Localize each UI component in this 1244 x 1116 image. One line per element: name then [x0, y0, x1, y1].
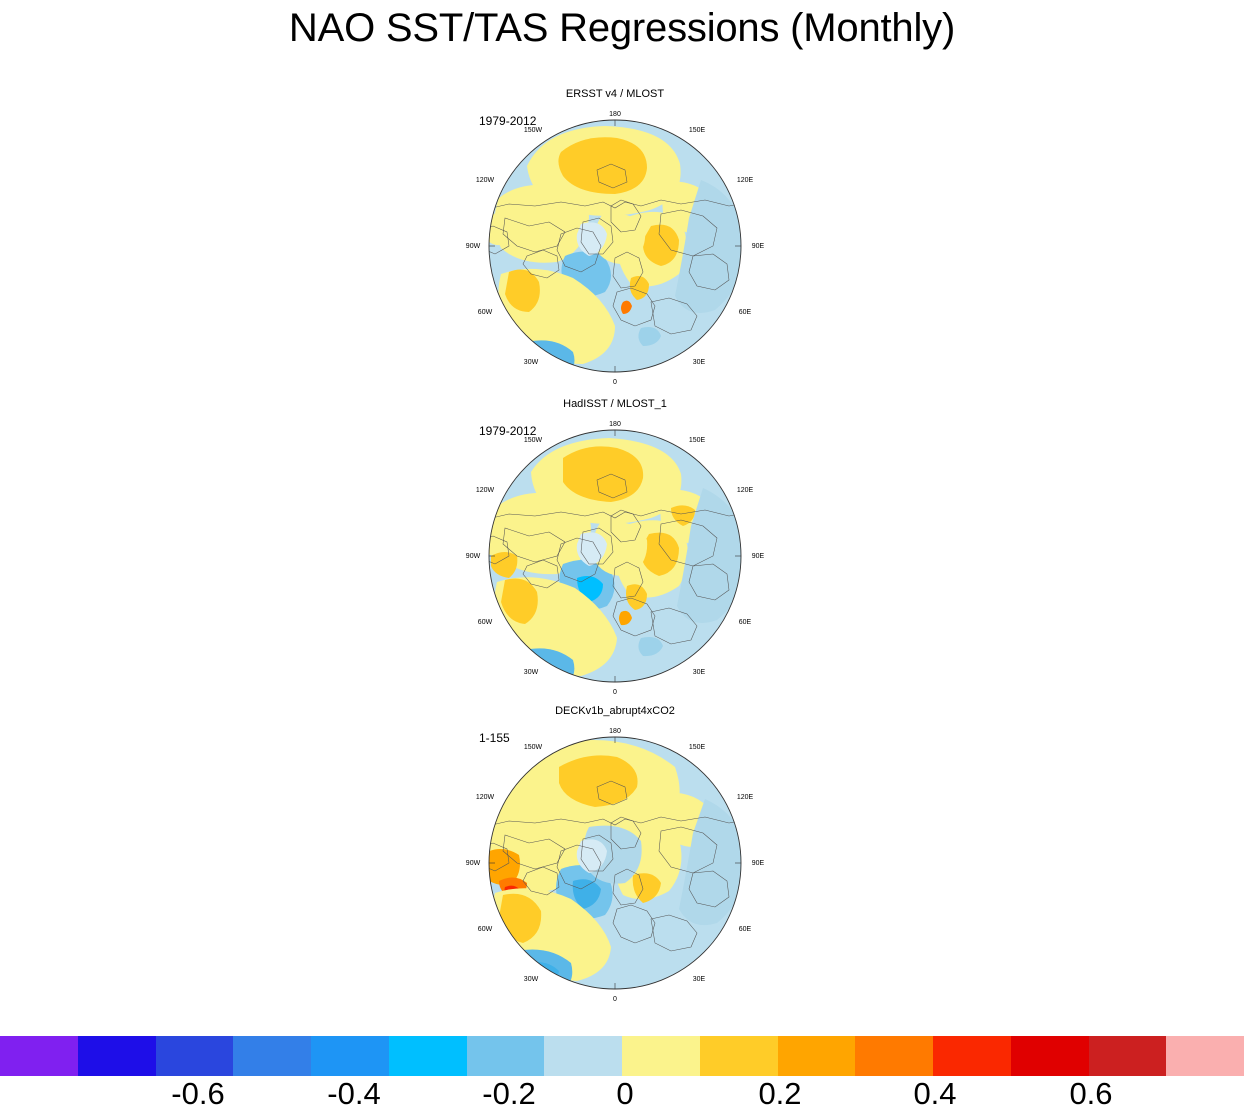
- lon-label-150E: 150E: [689, 437, 706, 444]
- colorbar-cell-8: [622, 1036, 700, 1076]
- panel-title: ERSST v4 / MLOST: [455, 88, 775, 100]
- panel-title: HadISST / MLOST_1: [455, 398, 775, 410]
- colorbar-cell-3: [233, 1036, 311, 1076]
- lon-label-90E: 90E: [752, 860, 765, 867]
- figure-title: NAO SST/TAS Regressions (Monthly): [0, 6, 1244, 51]
- lon-label-30E: 30E: [693, 976, 706, 983]
- lon-label-120E: 120E: [737, 794, 754, 801]
- lon-label-180: 180: [609, 421, 621, 428]
- lon-label-150E: 150E: [689, 127, 706, 134]
- polar-map: 180 150E 120E 90E 60E 30E 0 30W 60W 90W …: [465, 106, 765, 388]
- lon-label-90W: 90W: [466, 860, 481, 867]
- lon-label-60E: 60E: [739, 619, 752, 626]
- polar-map-svg: 180 150E 120E 90E 60E 30E 0 30W 60W 90W …: [465, 723, 765, 1005]
- lon-label-30W: 30W: [524, 359, 539, 366]
- lon-label-0: 0: [613, 996, 617, 1003]
- lon-label-0: 0: [613, 379, 617, 386]
- lon-label-120W: 120W: [476, 794, 495, 801]
- polar-map-svg: 180 150E 120E 90E 60E 30E 0 30W 60W 90W …: [465, 416, 765, 698]
- lon-label-120W: 120W: [476, 487, 495, 494]
- colorbar-cell-1: [78, 1036, 156, 1076]
- lon-label-150W: 150W: [524, 744, 543, 751]
- lon-label-150E: 150E: [689, 744, 706, 751]
- colorbar-tick-label: 0.6: [1069, 1076, 1112, 1112]
- colorbar-tick-label: 0: [616, 1076, 633, 1112]
- colorbar-tick-label: 0.4: [913, 1076, 956, 1112]
- lon-label-90E: 90E: [752, 243, 765, 250]
- lon-label-60W: 60W: [478, 926, 493, 933]
- colorbar-cell-4: [311, 1036, 389, 1076]
- map-panel-ersst-v4-mlost: ERSST v4 / MLOST 1979-2012: [455, 88, 775, 388]
- lon-label-30W: 30W: [524, 976, 539, 983]
- lon-label-120W: 120W: [476, 177, 495, 184]
- polar-map: 180 150E 120E 90E 60E 30E 0 30W 60W 90W …: [465, 723, 765, 1005]
- lon-label-60E: 60E: [739, 309, 752, 316]
- lon-label-30E: 30E: [693, 669, 706, 676]
- lon-label-0: 0: [613, 689, 617, 696]
- colorbar-cell-7: [544, 1036, 622, 1076]
- lon-label-180: 180: [609, 728, 621, 735]
- lon-label-150W: 150W: [524, 437, 543, 444]
- colorbar-tick-label: -0.6: [171, 1076, 224, 1112]
- colorbar-cell-5: [389, 1036, 467, 1076]
- colorbar-cell-13: [1011, 1036, 1089, 1076]
- colorbar-cell-12: [933, 1036, 1011, 1076]
- lon-label-120E: 120E: [737, 487, 754, 494]
- map-panel-deckv1b-abrupt4xco2: DECKv1b_abrupt4xCO2 1-155: [455, 705, 775, 1005]
- lon-label-60E: 60E: [739, 926, 752, 933]
- lon-label-30W: 30W: [524, 669, 539, 676]
- colorbar-cell-2: [156, 1036, 234, 1076]
- panel-title: DECKv1b_abrupt4xCO2: [455, 705, 775, 717]
- colorbar-cell-11: [855, 1036, 933, 1076]
- lon-label-60W: 60W: [478, 309, 493, 316]
- colorbar-tick-labels: -0.6-0.4-0.200.20.40.6: [0, 1076, 1244, 1116]
- lon-label-120E: 120E: [737, 177, 754, 184]
- colorbar-cell-15: [1166, 1036, 1244, 1076]
- lon-label-30E: 30E: [693, 359, 706, 366]
- colorbar: [0, 1036, 1244, 1076]
- lon-label-180: 180: [609, 111, 621, 118]
- map-panel-hadisst-mlost-1: HadISST / MLOST_1 1979-2012: [455, 398, 775, 698]
- colorbar-tick-label: 0.2: [758, 1076, 801, 1112]
- colorbar-cell-6: [467, 1036, 545, 1076]
- colorbar-tick-label: -0.2: [482, 1076, 535, 1112]
- colorbar-cell-14: [1089, 1036, 1167, 1076]
- polar-map: 180 150E 120E 90E 60E 30E 0 30W 60W 90W …: [465, 416, 765, 698]
- lon-label-90W: 90W: [466, 243, 481, 250]
- lon-label-90W: 90W: [466, 553, 481, 560]
- figure-canvas: NAO SST/TAS Regressions (Monthly) ERSST …: [0, 0, 1244, 1116]
- lon-label-90E: 90E: [752, 553, 765, 560]
- lon-label-150W: 150W: [524, 127, 543, 134]
- colorbar-cell-10: [778, 1036, 856, 1076]
- lon-label-60W: 60W: [478, 619, 493, 626]
- colorbar-cell-0: [0, 1036, 78, 1076]
- colorbar-cell-9: [700, 1036, 778, 1076]
- colorbar-tick-label: -0.4: [327, 1076, 380, 1112]
- polar-map-svg: 180 150E 120E 90E 60E 30E 0 30W 60W 90W …: [465, 106, 765, 388]
